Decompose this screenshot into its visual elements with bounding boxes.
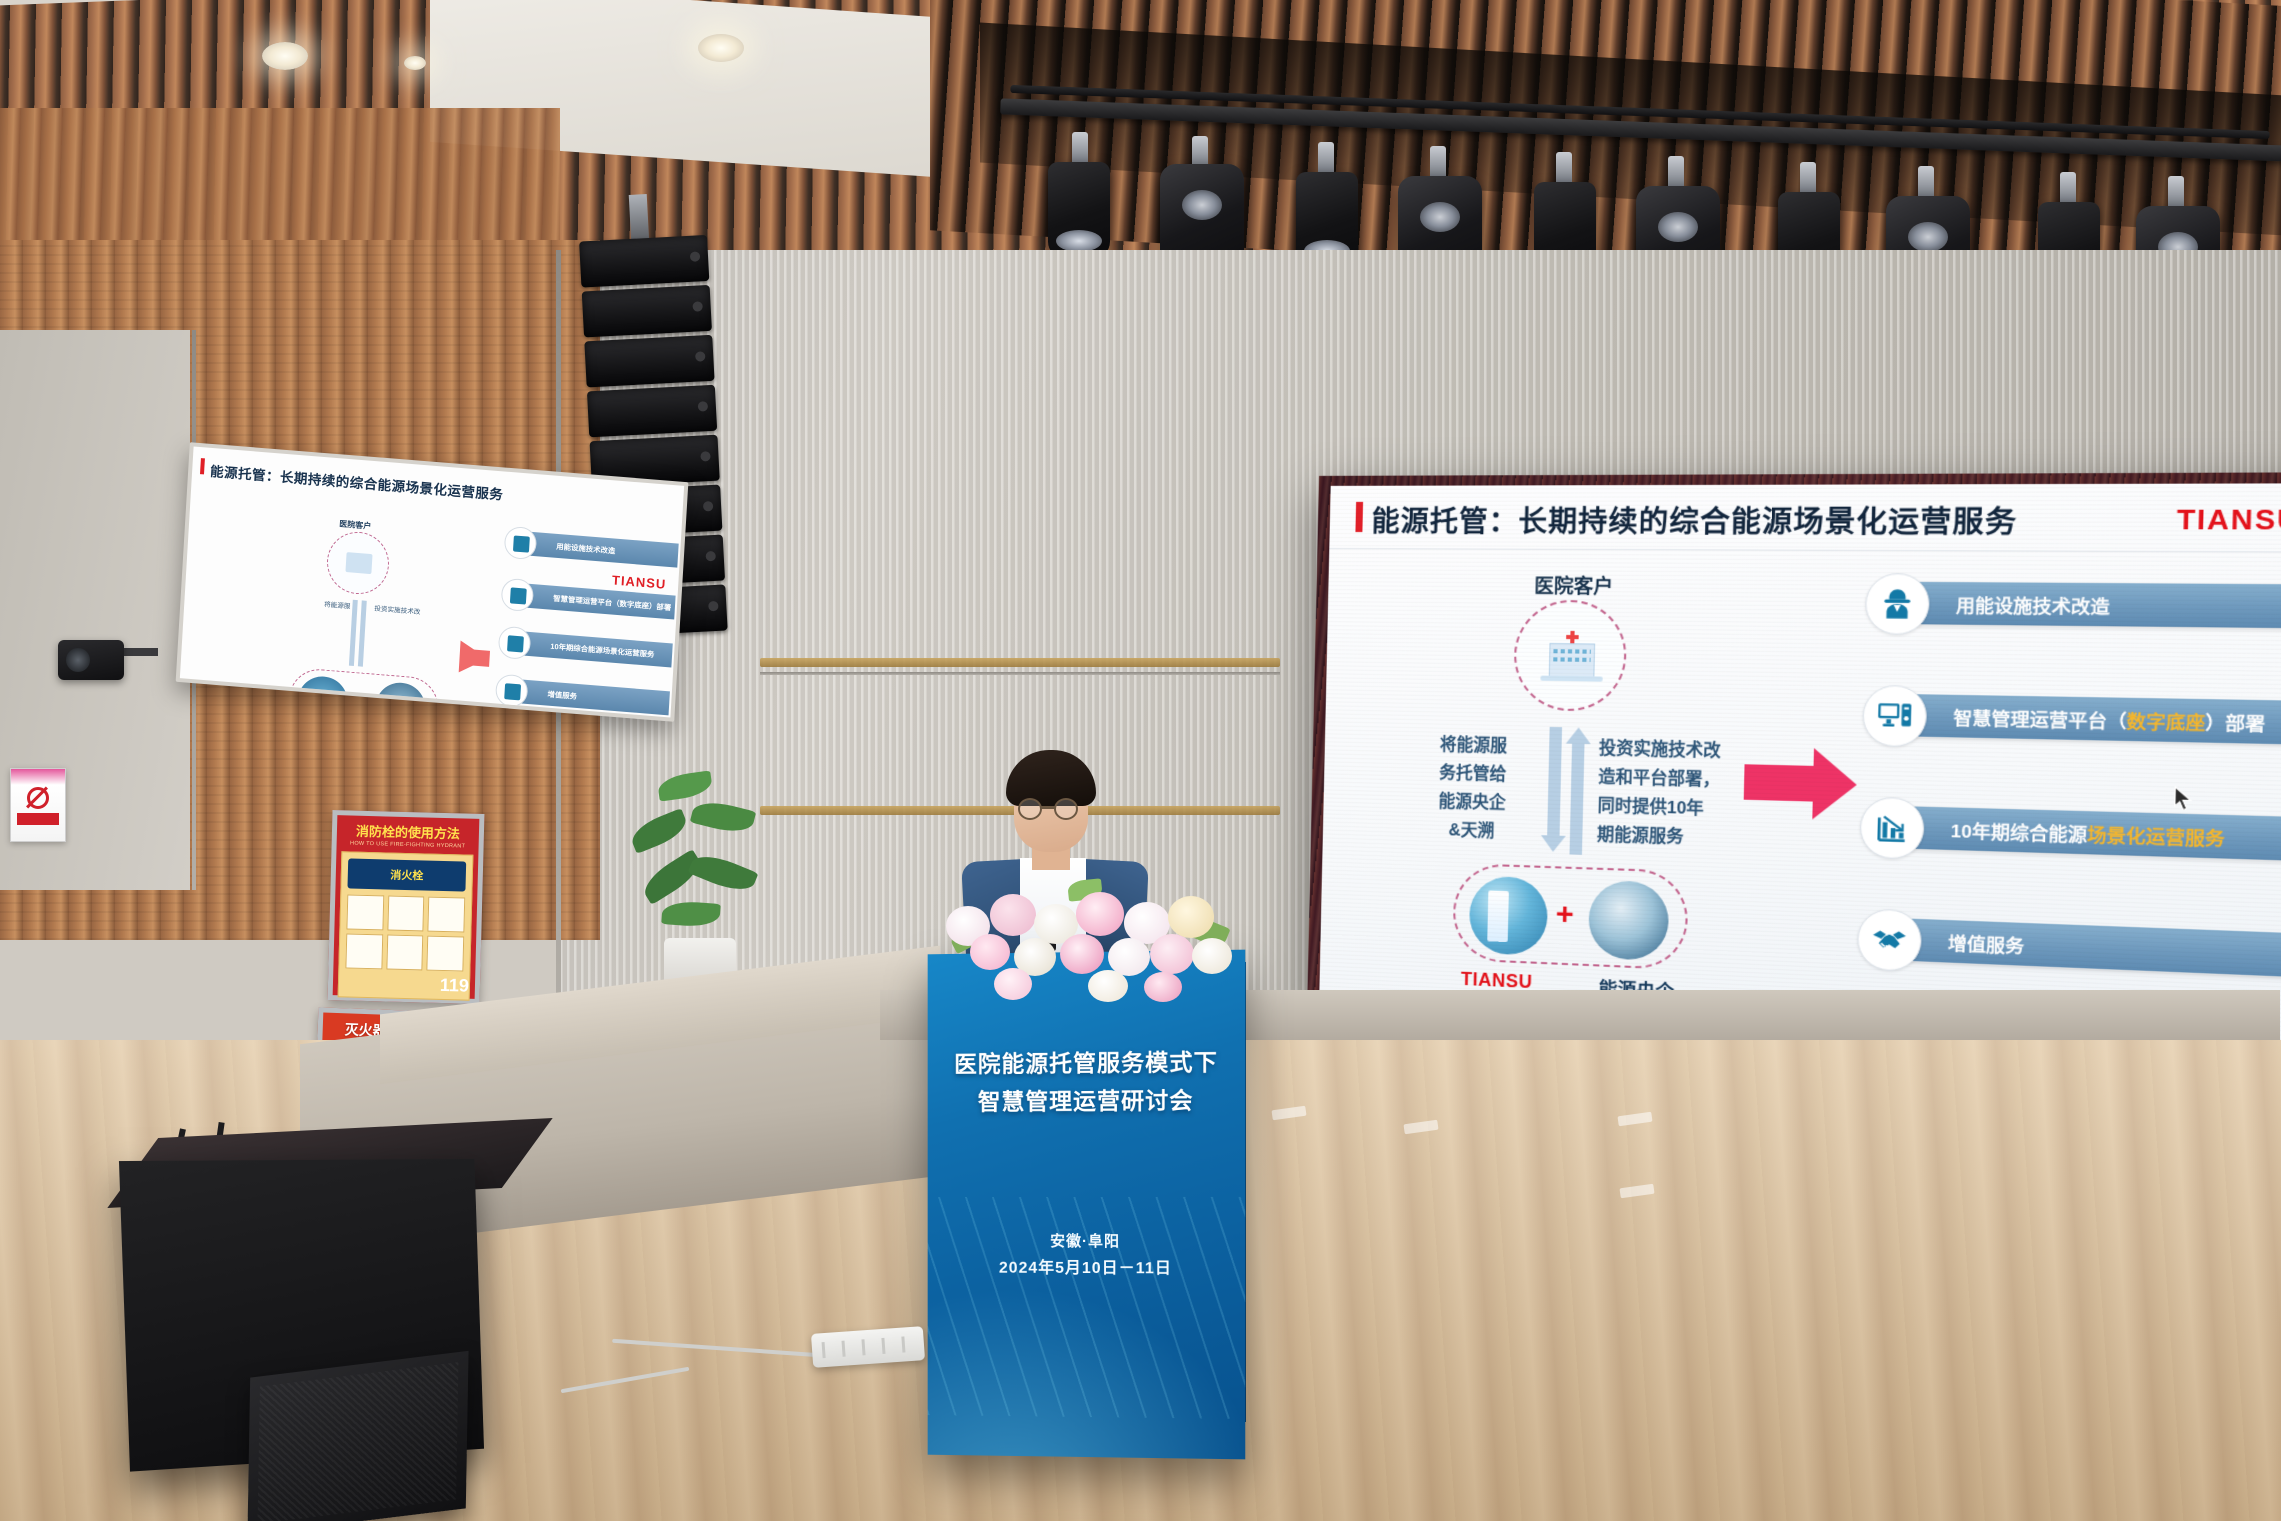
par-light-1 [1048, 162, 1110, 258]
fire-hydrant-steps-grid [345, 894, 465, 971]
light-clamp-8 [1918, 166, 1934, 200]
no-smoking-label-bar [17, 813, 59, 825]
plant-leaf [657, 770, 714, 801]
service-bars-list: 用能设施技术改造 智慧管理运营平台（数字底座）部署 [1856, 575, 2281, 1045]
left-monitor-bar-2-label: 智慧管理运营平台（数字底座）部署 [553, 592, 672, 612]
bar-chart-icon [1859, 797, 1924, 860]
wall-seam-1 [760, 672, 1280, 675]
step-cell [346, 894, 384, 930]
hospital-icon [1536, 628, 1608, 682]
step-cell [428, 897, 466, 933]
flower-bloom [1144, 972, 1182, 1002]
flower-bloom [1060, 934, 1104, 974]
line-array-box [582, 285, 712, 338]
scene-root: 能源托管：长期持续的综合能源场景化运营服务 TIANSU 医院客户 将能源服 投… [0, 0, 2281, 1521]
wall-gold-strip-1 [760, 658, 1280, 667]
left-monitor-title: 能源托管：长期持续的综合能源场景化运营服务 [210, 460, 504, 504]
worker-helmet-icon [504, 526, 538, 561]
service-bar-row[interactable]: 增值服务 [1857, 910, 2281, 989]
computer-monitor-icon [1862, 685, 1927, 748]
flow-right-line-4: 期能源服务 [1597, 820, 1797, 855]
camera-mount-arm [118, 648, 158, 656]
flower-bloom [1168, 896, 1214, 938]
emergency-number: 119 [440, 975, 470, 997]
flower-bloom [1192, 938, 1232, 974]
left-monitor-logo: TIANSU [612, 572, 667, 591]
client-label: 医院客户 [1471, 571, 1679, 600]
left-monitor-flow-arrows [349, 600, 367, 671]
slide-title-divider [1329, 548, 2281, 553]
glasses-lens-right [1054, 798, 1078, 820]
glasses-icon [1018, 798, 1042, 820]
fire-hydrant-poster: 消防栓的使用方法 HOW TO USE FIRE-FIGHTING HYDRAN… [328, 810, 485, 1004]
line-array-box [587, 385, 717, 438]
flow-left-line-4: &天溯 [1400, 815, 1543, 848]
light-clamp-6 [1668, 156, 1684, 190]
podium-title-line-2: 智慧管理运营研讨会 [928, 1081, 1246, 1121]
service-bar-1-label: 用能设施技术改造 [1956, 590, 2110, 618]
left-monitor-flow-left-text: 将能源服 [292, 597, 350, 613]
podium-location: 安徽·阜阳 [928, 1230, 1246, 1252]
light-clamp-10 [2168, 176, 2184, 210]
left-monitor-screen: 能源托管：长期持续的综合能源场景化运营服务 TIANSU 医院客户 将能源服 投… [180, 446, 684, 717]
fire-hydrant-badge: 消火栓 [390, 867, 423, 884]
light-clamp-4 [1430, 146, 1446, 180]
plus-icon: + [1555, 899, 1574, 930]
service-bar-row[interactable]: 10年期综合能源场景化运营服务 [1859, 799, 2281, 873]
podium-title-line-1: 医院能源托管服务模式下 [928, 1043, 1246, 1084]
flower-arrangement [938, 876, 1248, 1006]
plant-leaf [688, 849, 759, 898]
left-monitor-service-bar-4: 增值服务 [509, 679, 670, 716]
arrow-up-icon [1570, 744, 1585, 855]
flow-left-text: 将能源服 务托管给 能源央企 &天溯 [1400, 730, 1545, 848]
pink-arrow-icon [1744, 764, 1816, 801]
worker-helmet-icon [1865, 573, 1930, 635]
slide-title-accent [1355, 502, 1363, 532]
fire-hydrant-poster-header: 消防栓的使用方法 [337, 815, 480, 844]
service-bar-2-post: ）部署 [2205, 707, 2265, 735]
left-monitor-client-label: 医院客户 [339, 518, 372, 532]
line-array-box [579, 235, 709, 288]
stage-monitor-wedge [247, 1351, 468, 1521]
left-monitor-title-accent [200, 458, 205, 474]
ptz-camera [58, 640, 124, 680]
flower-bloom [1076, 892, 1124, 936]
light-clamp-3 [1318, 142, 1334, 176]
bar-chart-icon [498, 626, 532, 661]
step-cell [427, 936, 465, 972]
client-circle [1513, 600, 1627, 712]
hospital-icon [345, 552, 372, 574]
main-led-screen[interactable]: 能源托管：长期持续的综合能源场景化运营服务 TIANSU 医院客户 将能源服 务… [1307, 472, 2281, 1067]
left-monitor-bar-3-label: 10年期综合能源场景化运营服务 [550, 640, 655, 659]
arrow-down-icon [1547, 727, 1562, 838]
left-secondary-monitor[interactable]: 能源托管：长期持续的综合能源场景化运营服务 TIANSU 医院客户 将能源服 投… [176, 442, 689, 722]
light-clamp-5 [1556, 152, 1572, 186]
left-monitor-service-bar-3: 10年期综合能源场景化运营服务 [512, 631, 673, 668]
hair [1006, 750, 1096, 806]
flower-bloom [990, 894, 1036, 936]
no-smoking-sign [10, 768, 66, 842]
left-monitor-bar-1-label: 用能设施技术改造 [556, 540, 616, 556]
flow-left-line-3: 能源央企 [1401, 786, 1544, 818]
step-cell [387, 896, 425, 932]
flow-left-line-2: 务托管给 [1402, 758, 1545, 790]
service-bar-2[interactable]: 智慧管理运营平台（数字底座）部署 [1904, 694, 2281, 745]
left-monitor-flow-right-text: 投资实施技术改 [374, 603, 444, 620]
bidirectional-flow-arrows [1547, 727, 1591, 857]
glasses-bridge [1041, 806, 1055, 809]
computer-monitor-icon [500, 578, 534, 613]
service-bar-3[interactable]: 10年期综合能源场景化运营服务 [1901, 806, 2281, 862]
light-clamp-7 [1800, 162, 1816, 196]
left-monitor-service-bar-1: 用能设施技术改造 [518, 531, 679, 568]
downlight-1 [262, 42, 308, 70]
service-bar-2-highlight: 数字底座 [2126, 706, 2205, 735]
flower-bloom [970, 934, 1010, 970]
line-array-box [584, 335, 714, 388]
service-bar-3-highlight: 场景化运营服务 [2087, 819, 2225, 850]
flower-bloom [1150, 934, 1194, 974]
tiansu-logo: TIANSU [2176, 503, 2281, 537]
service-bar-2-pre: 智慧管理运营平台（ [1953, 703, 2127, 733]
left-monitor-big-arrow-icon [459, 640, 489, 674]
light-clamp-9 [2060, 172, 2076, 206]
flow-left-line-1: 将能源服 [1402, 730, 1545, 762]
flower-bloom [994, 968, 1032, 1000]
downlight-3 [404, 56, 426, 70]
step-cell [386, 935, 424, 971]
slide-title: 能源托管：长期持续的综合能源场景化运营服务 [1371, 499, 2018, 542]
step-cell [345, 933, 383, 969]
service-bar-3-pre: 10年期综合能源 [1950, 815, 2087, 846]
handshake-icon [495, 673, 529, 708]
light-clamp-1 [1072, 132, 1088, 166]
tiansu-building-photo [1469, 876, 1549, 956]
plant-leaf [661, 900, 721, 928]
presentation-slide: 能源托管：长期持续的综合能源场景化运营服务 TIANSU 医院客户 将能源服 务… [1319, 483, 2281, 1050]
service-bar-4[interactable]: 增值服务 [1899, 918, 2281, 979]
left-monitor-bar-4-label: 增值服务 [547, 688, 577, 701]
plant-leaf [690, 797, 756, 837]
podium-event-title: 医院能源托管服务模式下 智慧管理运营研讨会 [928, 1043, 1246, 1121]
soe-logo-photo [1588, 880, 1669, 961]
service-bar-1[interactable]: 用能设施技术改造 [1907, 582, 2281, 629]
service-bar-row[interactable]: 用能设施技术改造 [1865, 575, 2281, 640]
service-bar-row[interactable]: 智慧管理运营平台（数字底座）部署 [1862, 687, 2281, 757]
partner-pair-group: + [1452, 863, 1689, 970]
service-bar-4-label: 增值服务 [1948, 928, 2025, 958]
podium: 医院能源托管服务模式下 智慧管理运营研讨会 安徽·阜阳 2024年5月10日－1… [928, 950, 1246, 1460]
flower-bloom [1088, 970, 1128, 1002]
plant-leaf [627, 808, 691, 854]
left-monitor-client-circle [325, 530, 390, 597]
downlight-2 [698, 34, 744, 62]
podium-date: 2024年5月10日－11日 [928, 1254, 1246, 1279]
